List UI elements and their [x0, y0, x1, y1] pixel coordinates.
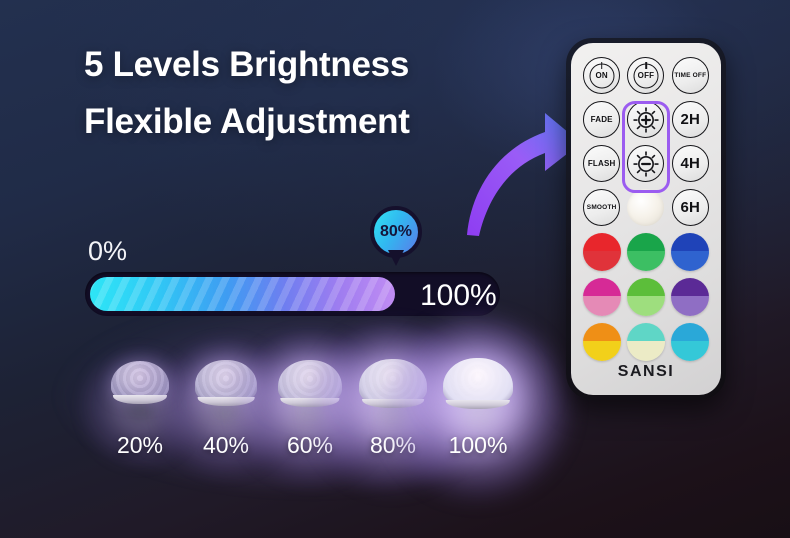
page-title: 5 Levels Brightness Flexible Adjustment	[84, 36, 410, 150]
headline-line-2: Flexible Adjustment	[84, 93, 410, 150]
brightness-up-icon[interactable]	[627, 101, 664, 138]
headline-line-1: 5 Levels Brightness	[84, 36, 410, 93]
marker-pointer-icon	[388, 250, 404, 266]
lamp-base	[198, 397, 255, 406]
remote-button-grid: ONOFFTIME OFFFADE2HFLASH4HSMOOTH6H	[582, 57, 710, 226]
curved-arrow-icon	[445, 105, 585, 240]
lamp-base	[280, 398, 339, 407]
remote-button-off[interactable]: OFF	[627, 57, 664, 94]
remote-color-green[interactable]	[627, 233, 665, 271]
lamp-base	[113, 395, 167, 404]
brand-logo: SANSI	[571, 363, 721, 381]
promo-banner: 5 Levels Brightness Flexible Adjustment …	[0, 0, 790, 538]
remote-button-flash[interactable]: FLASH	[583, 145, 620, 182]
brightness-slider-fill	[90, 277, 395, 311]
remote-button-2h[interactable]: 2H	[672, 101, 709, 138]
remote-color-grid	[582, 233, 710, 361]
slider-max-label: 100%	[420, 279, 497, 313]
lamp-item: 80%	[345, 336, 441, 406]
lamp-label: 100%	[430, 432, 526, 459]
brightness-value-marker[interactable]: 80%	[370, 206, 422, 258]
remote-color-cyan-blue[interactable]	[671, 323, 709, 361]
lamp-label: 20%	[92, 432, 188, 459]
remote-color-orange[interactable]	[583, 323, 621, 361]
remote-color-blue[interactable]	[671, 233, 709, 271]
remote-color-purple[interactable]	[671, 278, 709, 316]
slider-min-label: 0%	[88, 236, 127, 267]
remote-color-lime[interactable]	[627, 278, 665, 316]
remote-color-magenta[interactable]	[583, 278, 621, 316]
remote-color-aqua[interactable]	[627, 323, 665, 361]
remote-button-fade[interactable]: FADE	[583, 101, 620, 138]
remote-button-smooth[interactable]: SMOOTH	[583, 189, 620, 226]
brightness-down-icon[interactable]	[627, 145, 664, 182]
remote-button-6h[interactable]: 6H	[672, 189, 709, 226]
lamp-label: 80%	[345, 432, 441, 459]
lamp-label: 60%	[262, 432, 358, 459]
lamp-item: 60%	[262, 336, 358, 405]
lamp-base	[446, 400, 510, 409]
remote-control: ONOFFTIME OFFFADE2HFLASH4HSMOOTH6H SANSI	[566, 38, 726, 400]
remote-color-white[interactable]	[627, 189, 664, 226]
lamp-item: 100%	[430, 336, 526, 407]
remote-button-on[interactable]: ON	[583, 57, 620, 94]
lamp-label: 40%	[178, 432, 274, 459]
lamp-item: 40%	[178, 336, 274, 404]
lamp-item: 20%	[92, 336, 188, 402]
remote-button-4h[interactable]: 4H	[672, 145, 709, 182]
remote-button-time-off[interactable]: TIME OFF	[672, 57, 709, 94]
remote-color-red[interactable]	[583, 233, 621, 271]
remote-face: ONOFFTIME OFFFADE2HFLASH4HSMOOTH6H SANSI	[571, 43, 721, 395]
lamp-base	[362, 399, 424, 408]
